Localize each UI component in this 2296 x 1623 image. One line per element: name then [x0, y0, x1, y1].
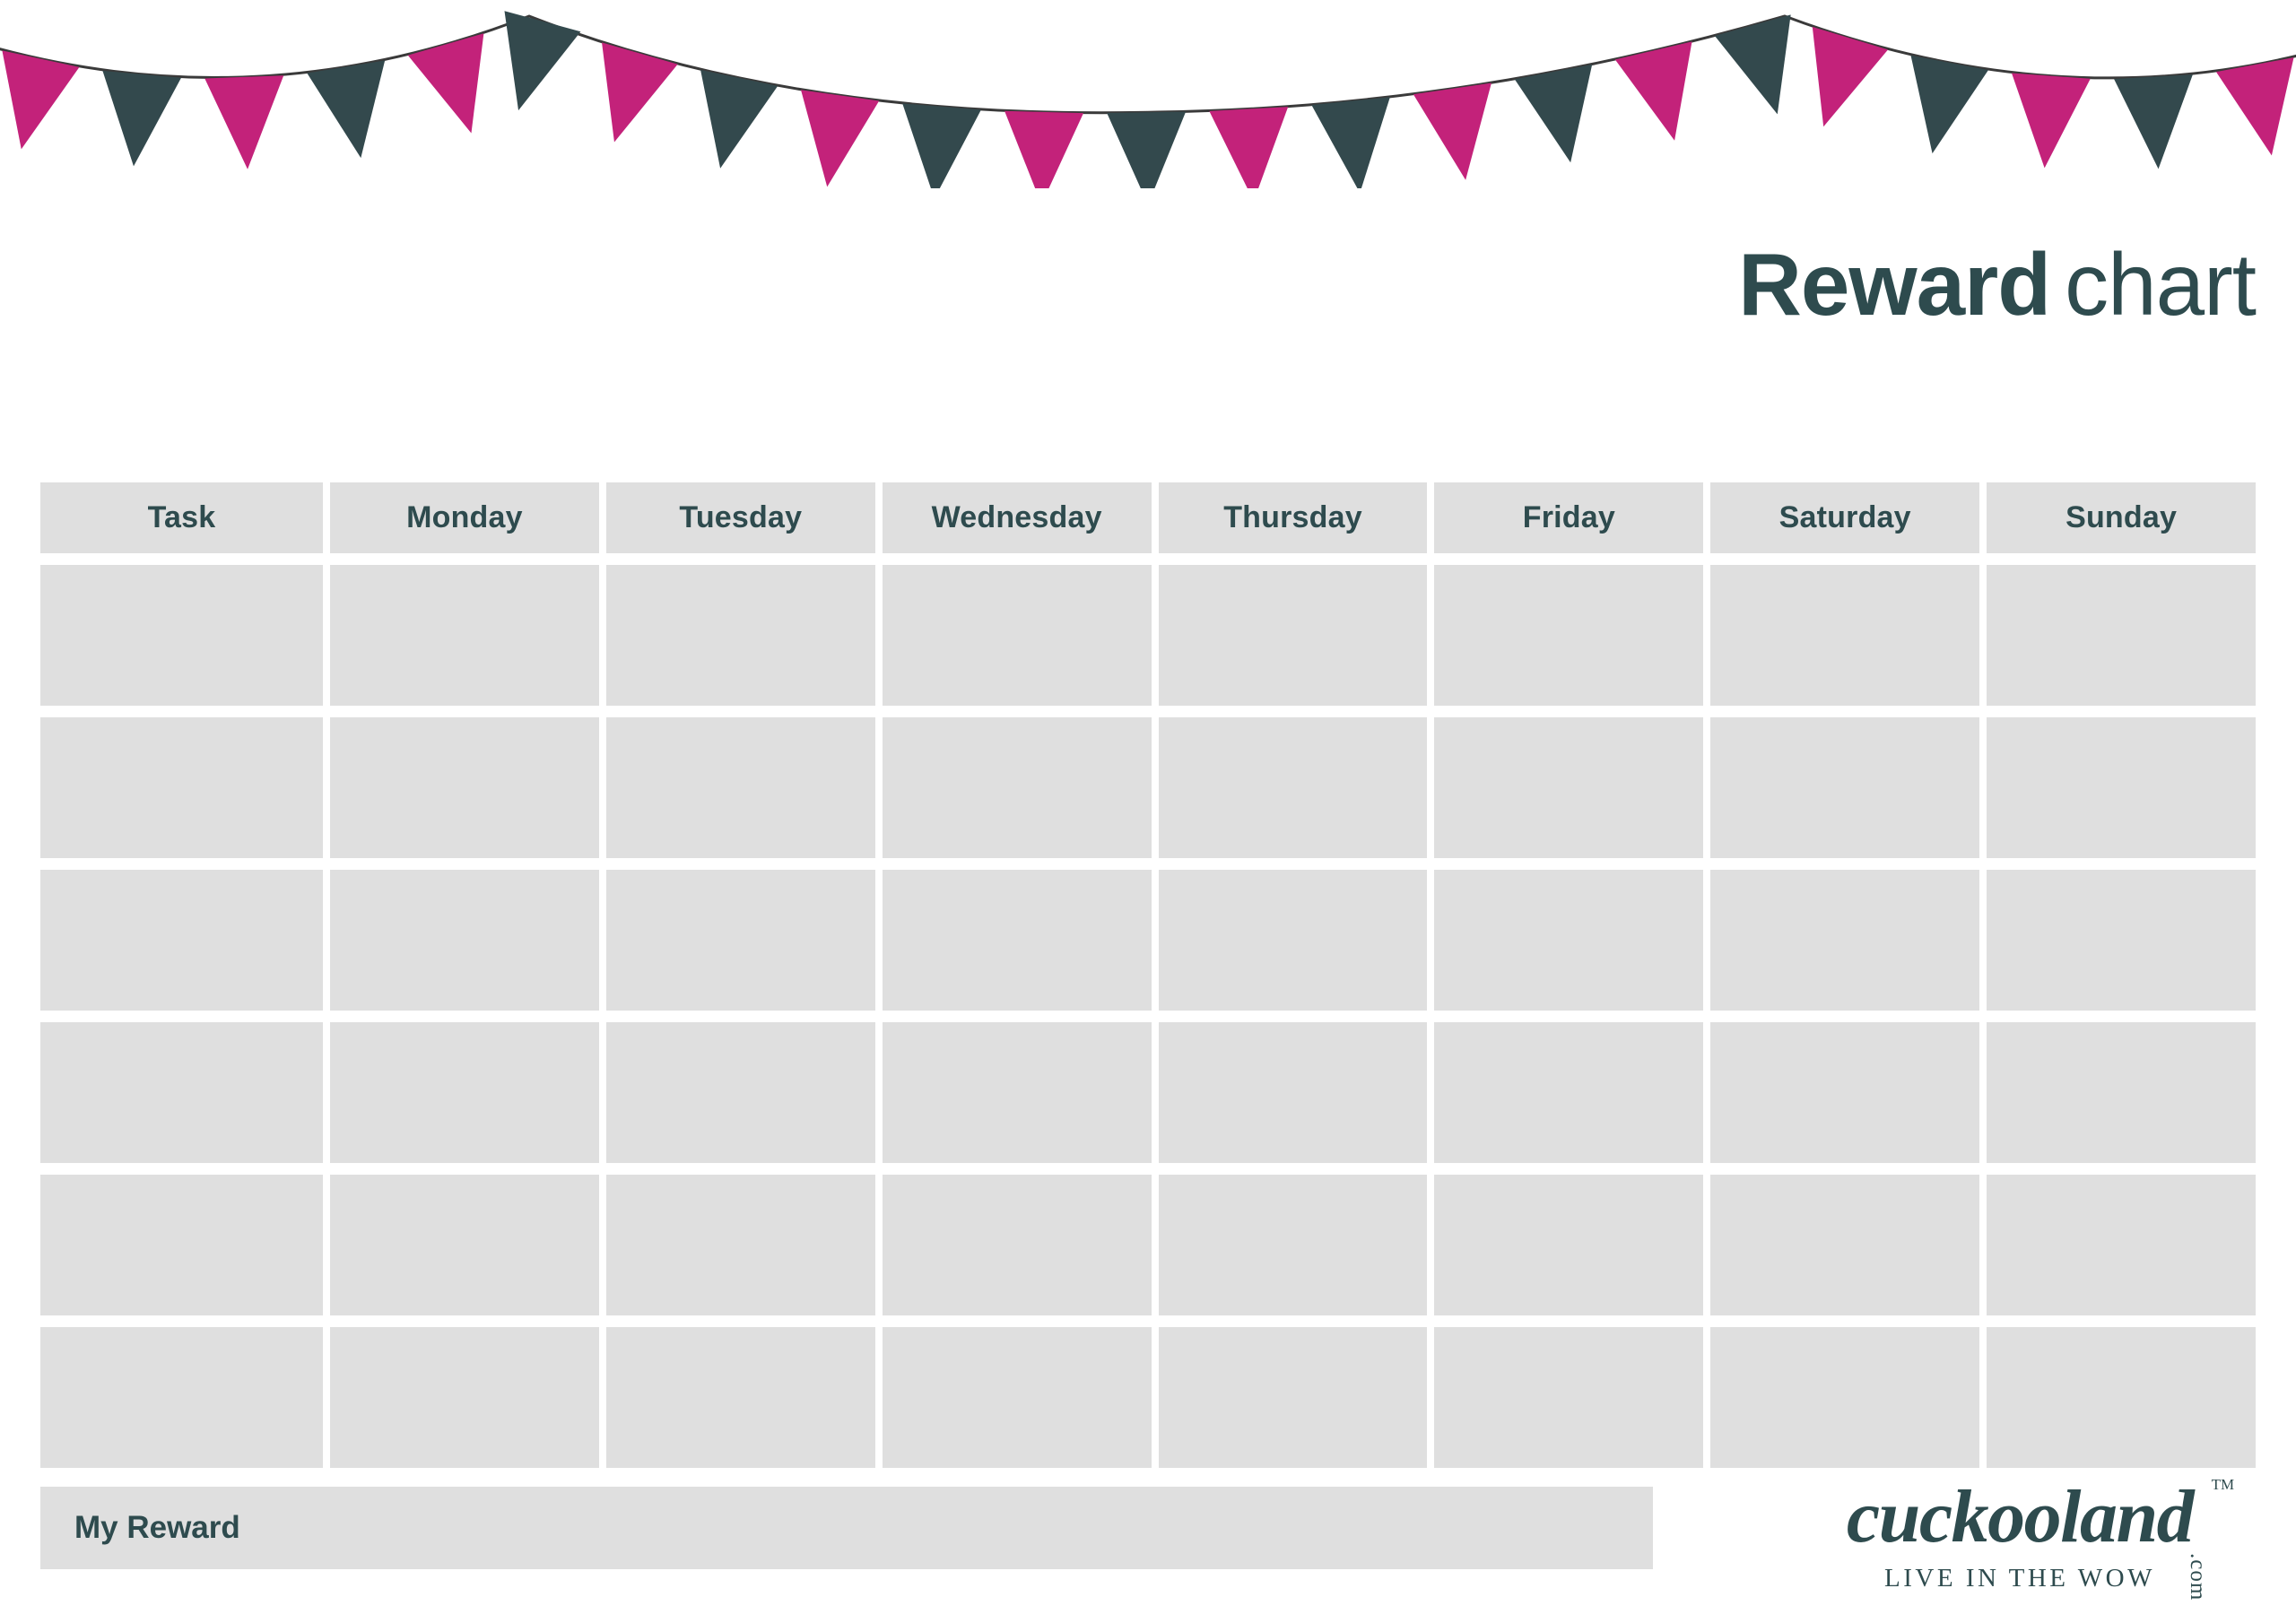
bunting-flag-magenta [1002, 111, 1083, 188]
table-header-label: Tuesday [679, 500, 802, 535]
table-cell-thursday[interactable] [1159, 717, 1428, 858]
table-cell-task[interactable] [40, 1327, 323, 1468]
table-header-cell-monday: Monday [330, 482, 599, 553]
table-header-label: Friday [1523, 500, 1615, 535]
table-header-label: Thursday [1223, 500, 1362, 535]
table-cell-wednesday[interactable] [883, 1022, 1152, 1163]
table-cell-saturday[interactable] [1710, 565, 1979, 706]
table-cell-tuesday[interactable] [606, 870, 875, 1011]
table-header-cell-tuesday: Tuesday [606, 482, 875, 553]
table-row [40, 1327, 2256, 1468]
bunting-flag-teal [307, 60, 399, 164]
table-cell-task[interactable] [40, 870, 323, 1011]
table-row [40, 717, 2256, 858]
page-title-bold: Reward [1738, 235, 2050, 334]
table-cell-tuesday[interactable] [606, 717, 875, 858]
table-cell-wednesday[interactable] [883, 1175, 1152, 1315]
table-row [40, 565, 2256, 706]
bunting-flag-teal [1311, 97, 1399, 188]
table-cell-tuesday[interactable] [606, 1022, 875, 1163]
table-cell-monday[interactable] [330, 565, 599, 706]
table-cell-task[interactable] [40, 717, 323, 858]
table-cell-tuesday[interactable] [606, 1175, 875, 1315]
bunting-flag-magenta [0, 50, 79, 157]
table-cell-sunday[interactable] [1987, 1022, 2256, 1163]
table-header-cell-sunday: Sunday [1987, 482, 2256, 553]
table-cell-thursday[interactable] [1159, 1022, 1428, 1163]
table-cell-tuesday[interactable] [606, 1327, 875, 1468]
bunting-flag-magenta [2216, 57, 2296, 162]
bunting-flag-teal [895, 103, 981, 188]
table-cell-thursday[interactable] [1159, 1175, 1428, 1315]
table-header-cell-task: Task [40, 482, 323, 553]
table-row [40, 1175, 2256, 1315]
table-cell-wednesday[interactable] [883, 1327, 1152, 1468]
logo-wordmark-wrap: cuckooland .com TM [1847, 1480, 2193, 1555]
bunting-flag-teal [2114, 74, 2197, 171]
table-cell-friday[interactable] [1434, 565, 1703, 706]
bunting-flag-magenta [2005, 74, 2091, 171]
table-cell-thursday[interactable] [1159, 870, 1428, 1011]
table-cell-monday[interactable] [330, 717, 599, 858]
table-cell-friday[interactable] [1434, 1175, 1703, 1315]
page-title: Rewardchart [1738, 240, 2256, 328]
table-cell-saturday[interactable] [1710, 1327, 1979, 1468]
table-row [40, 870, 2256, 1011]
table-cell-sunday[interactable] [1987, 565, 2256, 706]
table-cell-monday[interactable] [330, 1175, 599, 1315]
table-cell-task[interactable] [40, 1022, 323, 1163]
table-cell-wednesday[interactable] [883, 717, 1152, 858]
table-header-cell-wednesday: Wednesday [883, 482, 1152, 553]
table-cell-monday[interactable] [330, 1022, 599, 1163]
table-cell-saturday[interactable] [1710, 1022, 1979, 1163]
table-cell-saturday[interactable] [1710, 1175, 1979, 1315]
table-header-row: TaskMondayTuesdayWednesdayThursdayFriday… [40, 482, 2256, 553]
bunting-flag-teal [94, 71, 181, 169]
table-cell-thursday[interactable] [1159, 565, 1428, 706]
table-cell-friday[interactable] [1434, 717, 1703, 858]
bunting-flag-magenta [1615, 41, 1713, 149]
table-header-label: Task [148, 500, 216, 535]
bunting-flag-teal [682, 70, 778, 177]
reward-chart-table: TaskMondayTuesdayWednesdayThursdayFriday… [40, 482, 2256, 1468]
bunting-flag-magenta [204, 75, 287, 170]
cuckooland-logo: cuckooland .com TM LIVE IN THE WOW [1787, 1480, 2253, 1593]
table-cell-friday[interactable] [1434, 1022, 1703, 1163]
table-cell-sunday[interactable] [1987, 1327, 2256, 1468]
logo-trademark-icon: TM [2212, 1476, 2235, 1494]
logo-dotcom: .com [2185, 1553, 2210, 1601]
logo-tagline: LIVE IN THE WOW [1787, 1564, 2253, 1593]
table-cell-task[interactable] [40, 1175, 323, 1315]
table-row [40, 1022, 2256, 1163]
bunting-flags [0, 11, 2296, 188]
table-header-cell-thursday: Thursday [1159, 482, 1428, 553]
table-cell-wednesday[interactable] [883, 870, 1152, 1011]
bunting-flag-magenta [788, 90, 879, 188]
table-cell-monday[interactable] [330, 870, 599, 1011]
table-header-cell-friday: Friday [1434, 482, 1703, 553]
table-cell-sunday[interactable] [1987, 870, 2256, 1011]
table-header-label: Monday [406, 500, 523, 535]
logo-wordmark: cuckooland [1847, 1475, 2193, 1558]
table-cell-sunday[interactable] [1987, 1175, 2256, 1315]
table-cell-monday[interactable] [330, 1327, 599, 1468]
table-header-label: Saturday [1779, 500, 1911, 535]
table-cell-tuesday[interactable] [606, 565, 875, 706]
bunting-flag-teal [1893, 56, 1988, 161]
my-reward-label: My Reward [74, 1510, 240, 1546]
table-cell-friday[interactable] [1434, 1327, 1703, 1468]
bunting-flag-magenta [1209, 107, 1292, 188]
page-title-light: chart [2065, 235, 2256, 334]
table-cell-friday[interactable] [1434, 870, 1703, 1011]
bunting-flag-teal [1107, 111, 1187, 188]
table-cell-wednesday[interactable] [883, 565, 1152, 706]
table-cell-sunday[interactable] [1987, 717, 2256, 858]
table-cell-saturday[interactable] [1710, 717, 1979, 858]
table-cell-task[interactable] [40, 565, 323, 706]
table-cell-thursday[interactable] [1159, 1327, 1428, 1468]
my-reward-bar[interactable]: My Reward [40, 1487, 1653, 1569]
bunting-flag-magenta [1413, 83, 1505, 187]
bunting-decoration [0, 0, 2296, 188]
table-header-label: Wednesday [932, 500, 1102, 535]
table-header-label: Sunday [2066, 500, 2177, 535]
table-header-cell-saturday: Saturday [1710, 482, 1979, 553]
table-cell-saturday[interactable] [1710, 870, 1979, 1011]
bunting-flag-teal [1515, 65, 1610, 170]
